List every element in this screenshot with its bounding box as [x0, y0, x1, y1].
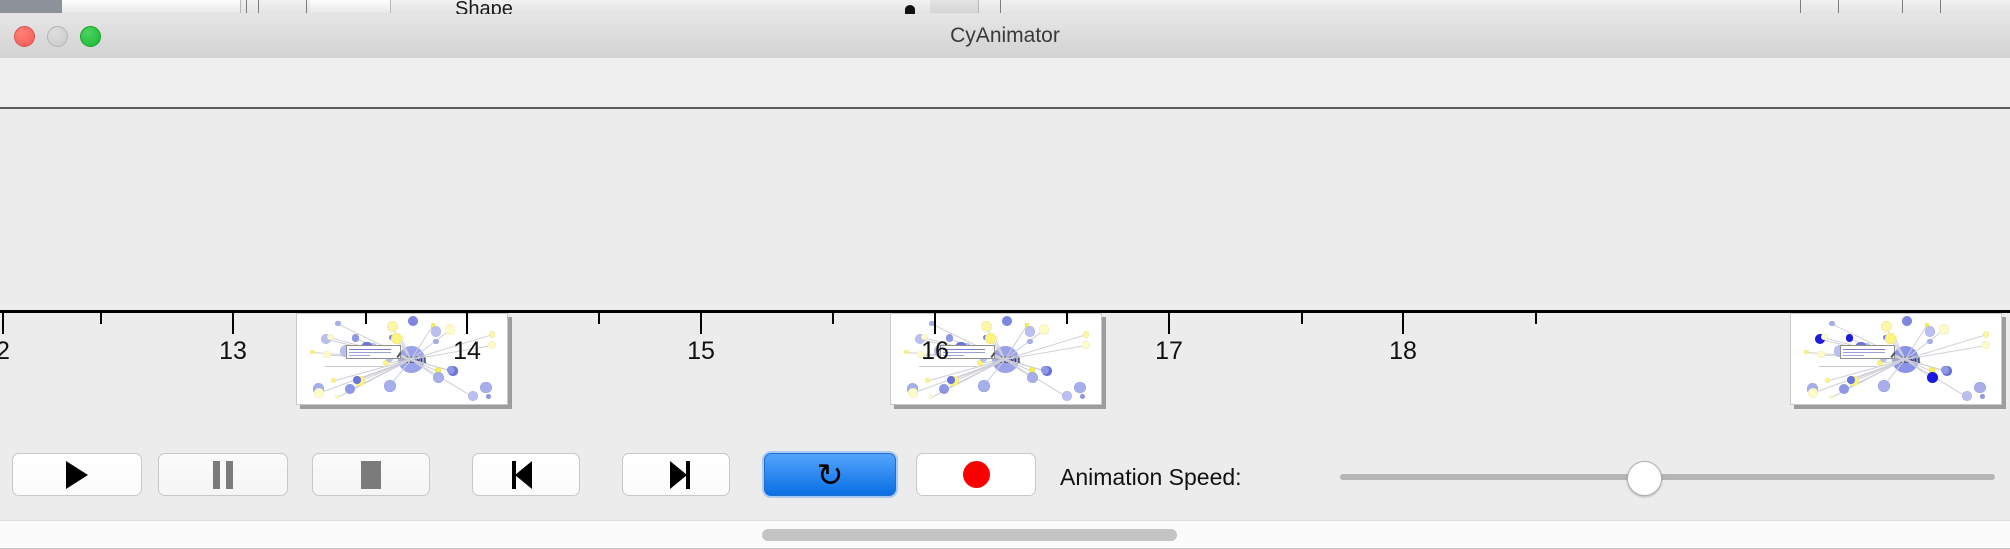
background-window-tick — [1940, 0, 1941, 13]
ruler-major-tick — [232, 313, 234, 334]
ruler-major-tick — [466, 313, 468, 334]
stop-button[interactable] — [312, 453, 430, 496]
ruler-tick-label: 14 — [453, 337, 481, 366]
background-window-tick — [1000, 0, 1001, 13]
toolbar: + Clear All Frames — [0, 58, 2010, 109]
ruler-tick-label: 15 — [687, 337, 715, 366]
background-window-tick — [306, 0, 307, 13]
ruler-tick-label: 2 — [0, 337, 10, 366]
title-bar: CyAnimator — [0, 14, 2010, 59]
loop-button[interactable]: ↻ — [764, 453, 896, 496]
pause-button[interactable] — [158, 453, 288, 496]
loop-icon: ↻ — [817, 459, 844, 491]
graph-node-blue — [486, 394, 491, 399]
ruler-tick-label: 13 — [219, 337, 247, 366]
play-button[interactable] — [12, 453, 142, 496]
animation-speed-label: Animation Speed: — [1060, 464, 1242, 491]
graph-node-blue — [384, 380, 395, 391]
graph-node-blue — [1074, 382, 1086, 394]
graph-node-yellow — [314, 388, 324, 398]
play-icon — [66, 461, 88, 489]
playback-controls: ↻ Animation Speed: — [0, 439, 2010, 510]
skip-forward-button[interactable] — [622, 453, 730, 496]
ruler-minor-tick — [832, 313, 834, 324]
record-button[interactable] — [916, 453, 1036, 496]
graph-node-yellow — [331, 378, 336, 383]
graph-node-blue — [1974, 382, 1986, 394]
graph-node-blue — [353, 376, 361, 384]
background-window-tick — [246, 0, 247, 13]
graph-node-yellow — [335, 395, 339, 399]
background-window-shape-label: Shape — [455, 0, 513, 15]
graph-node-blue — [1062, 391, 1072, 401]
ruler-minor-tick — [1066, 313, 1068, 324]
skip-back-icon — [512, 461, 540, 489]
graph-node-blue — [1847, 376, 1855, 384]
horizontal-scrollbar[interactable] — [0, 520, 2010, 549]
graph-node-blue — [345, 384, 355, 394]
timeline-panel[interactable]: MCM1MCM1MCM1 2131415161718 Seconds — [0, 109, 2010, 411]
background-window-blob — [905, 5, 915, 14]
background-window-segment — [190, 0, 241, 13]
cyanimator-window: Shape CyAnimator + Clear All Frames — [0, 0, 2010, 510]
graph-node-blue — [947, 376, 955, 384]
ruler-minor-tick — [365, 313, 367, 324]
graph-node-yellow — [908, 388, 918, 398]
background-window-tick — [1902, 0, 1903, 13]
graph-node-yellow — [1829, 395, 1833, 399]
timeline-ruler[interactable]: 2131415161718 — [0, 310, 2010, 374]
frame-strip[interactable]: MCM1MCM1MCM1 — [0, 109, 2010, 310]
ruler-minor-tick — [100, 313, 102, 324]
ruler-major-tick — [1402, 313, 1404, 334]
pause-icon — [213, 461, 233, 489]
graph-node-yellow — [1808, 388, 1818, 398]
record-icon — [963, 461, 990, 488]
graph-node-blue — [1878, 380, 1889, 391]
graph-node-blue — [1839, 384, 1849, 394]
window-title: CyAnimator — [0, 14, 2010, 58]
ruler-tick-label: 18 — [1389, 337, 1417, 366]
background-window-strip: Shape — [0, 0, 2010, 15]
graph-node-blue — [1962, 391, 1972, 401]
graph-node-yellow — [1825, 378, 1830, 383]
ruler-axis-line — [0, 310, 2010, 313]
background-window-segment — [310, 0, 391, 13]
graph-node-blue — [939, 384, 949, 394]
background-window-tick — [258, 0, 259, 13]
horizontal-scrollbar-thumb[interactable] — [762, 529, 1177, 541]
graph-node-blue — [1980, 394, 1985, 399]
graph-node-blue — [468, 391, 478, 401]
background-window-dark-segment — [0, 0, 62, 13]
background-window-tick — [1800, 0, 1801, 13]
ruler-major-tick — [2, 313, 4, 334]
background-window-tick — [1838, 0, 1839, 13]
skip-back-button[interactable] — [472, 453, 580, 496]
ruler-tick-label: 17 — [1155, 337, 1183, 366]
graph-node-blue — [978, 380, 989, 391]
graph-node-blue — [480, 382, 492, 394]
graph-node-blue — [1080, 394, 1085, 399]
skip-forward-icon — [662, 461, 690, 489]
animation-speed-slider[interactable] — [1340, 474, 1995, 480]
ruler-minor-tick — [1535, 313, 1537, 324]
ruler-major-tick — [934, 313, 936, 334]
graph-node-yellow — [925, 378, 930, 383]
ruler-minor-tick — [598, 313, 600, 324]
animation-speed-slider-thumb[interactable] — [1627, 461, 1662, 496]
ruler-tick-label: 16 — [921, 337, 949, 366]
graph-node-yellow — [929, 395, 933, 399]
ruler-minor-tick — [1301, 313, 1303, 324]
background-window-segment — [62, 0, 191, 13]
background-window-segment — [930, 0, 979, 13]
stop-icon — [361, 461, 381, 489]
ruler-major-tick — [1168, 313, 1170, 334]
ruler-major-tick — [700, 313, 702, 334]
